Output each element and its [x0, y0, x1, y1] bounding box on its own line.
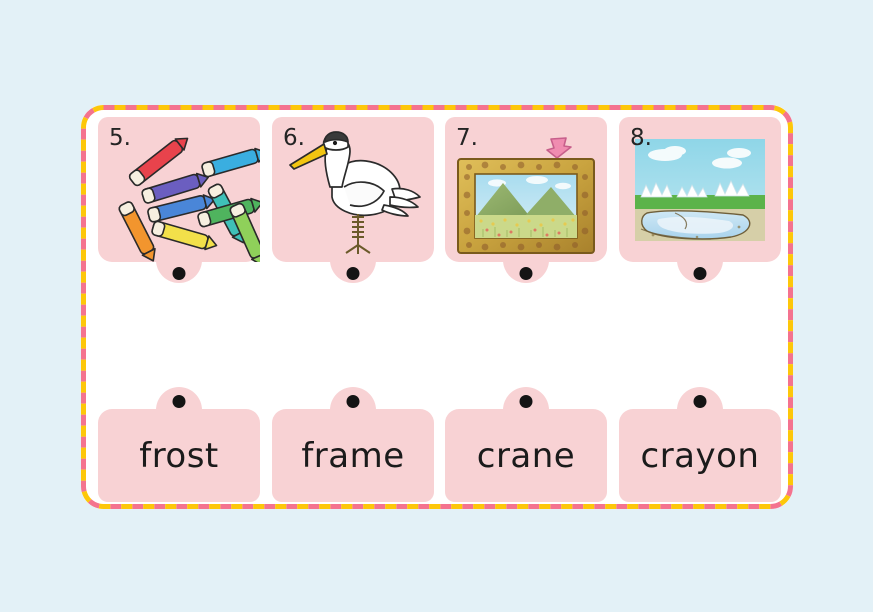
- card-number-8: 8.: [630, 125, 652, 151]
- word-card-crane[interactable]: crane: [445, 409, 607, 502]
- card-number-5: 5.: [109, 125, 131, 151]
- connector-dot-5[interactable]: [173, 267, 186, 280]
- card-number-6: 6.: [283, 125, 305, 151]
- word-label: crane: [477, 436, 575, 476]
- word-label: frost: [139, 436, 219, 476]
- connector-dot-6[interactable]: [347, 267, 360, 280]
- word-label: crayon: [641, 436, 760, 476]
- connector-dot-7[interactable]: [520, 267, 533, 280]
- picture-card-crayons[interactable]: 5.: [98, 117, 260, 262]
- picture-card-crane[interactable]: 6.: [272, 117, 434, 262]
- connector-dot-8[interactable]: [694, 267, 707, 280]
- word-label: frame: [301, 436, 404, 476]
- connector-dot-crayon[interactable]: [694, 395, 707, 408]
- connector-dot-frost[interactable]: [173, 395, 186, 408]
- word-card-frame[interactable]: frame: [272, 409, 434, 502]
- picture-card-frame[interactable]: 7.: [445, 117, 607, 262]
- picture-card-frost[interactable]: 8.: [619, 117, 781, 262]
- activity-panel: 5.: [81, 105, 793, 509]
- connector-dot-frame[interactable]: [347, 395, 360, 408]
- connector-dot-crane[interactable]: [520, 395, 533, 408]
- pointer-arrow-icon: [547, 138, 571, 158]
- card-number-7: 7.: [456, 125, 478, 151]
- panel-inner: 5.: [87, 111, 787, 503]
- word-card-frost[interactable]: frost: [98, 409, 260, 502]
- word-card-crayon[interactable]: crayon: [619, 409, 781, 502]
